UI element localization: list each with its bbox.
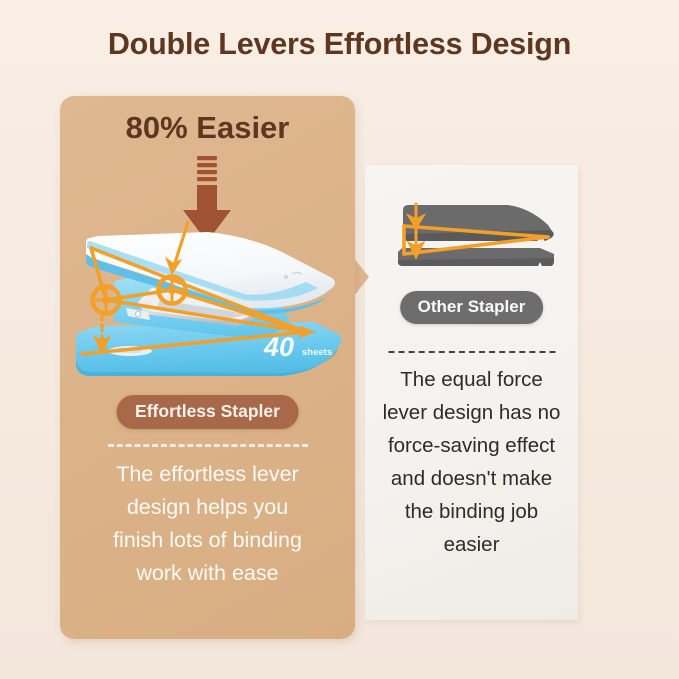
infographic-stage: Double Levers Effortless Design (0, 0, 679, 679)
effortless-stapler-badge: Effortless Stapler (116, 395, 299, 429)
description-line: finish lots of binding (72, 524, 343, 557)
pivot-marker-lower (92, 286, 120, 314)
divider-left (108, 444, 308, 447)
other-stapler-panel: Other Stapler The equal force lever desi… (365, 165, 578, 620)
description-line: design helps you (72, 491, 343, 524)
description-line: The equal force (371, 363, 572, 396)
description-line: force-saving effect (371, 429, 572, 462)
description-line: work with ease (72, 557, 343, 590)
page-title: Double Levers Effortless Design (0, 27, 679, 62)
gray-stapler-illustration (390, 194, 560, 273)
description-line: lever design has no (371, 396, 572, 429)
other-stapler-description: The equal force lever design has no forc… (371, 363, 572, 561)
description-line: The effortless lever (72, 458, 343, 491)
effortless-stapler-panel: 80% Easier (60, 96, 355, 639)
blue-white-stapler-illustration: 40 sheets (68, 214, 348, 399)
description-line: easier (371, 528, 572, 561)
effortless-stapler-description: The effortless lever design helps you fi… (72, 458, 343, 590)
description-line: and doesn't make (371, 462, 572, 495)
description-line: the binding job (371, 495, 572, 528)
capacity-unit: sheets (302, 347, 332, 358)
other-stapler-badge: Other Stapler (400, 291, 544, 324)
pivot-marker-upper (158, 276, 186, 304)
easier-headline: 80% Easier (60, 110, 355, 146)
divider-right (388, 351, 555, 353)
